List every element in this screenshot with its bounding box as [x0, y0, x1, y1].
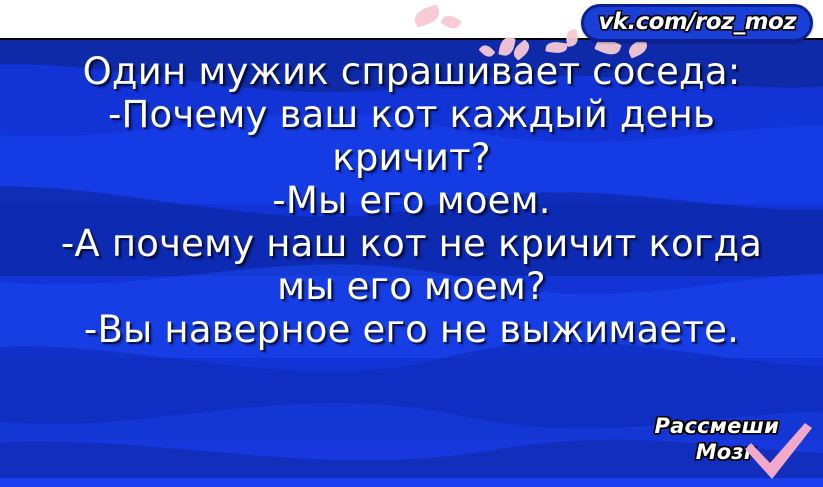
joke-line-2: -Почему ваш кот каждый день — [0, 93, 823, 136]
bottom-accent-bar — [0, 478, 823, 487]
joke-line-6: мы его моем? — [0, 265, 823, 308]
joke-line-4: -Мы его моем. — [0, 179, 823, 222]
joke-line-1: Один мужик спрашивает соседа: — [0, 50, 823, 93]
joke-text-block: Один мужик спрашивает соседа:-Почему ваш… — [0, 50, 823, 351]
joke-line-3: кричит? — [0, 136, 823, 179]
joke-line-7: -Вы наверное его не выжимаете. — [0, 308, 823, 351]
joke-line-5: -А почему наш кот не кричит когда — [0, 222, 823, 265]
checkmark-icon — [741, 421, 815, 483]
meme-image: Один мужик спрашивает соседа:-Почему ваш… — [0, 0, 823, 487]
rassmeshi-mozg-logo[interactable]: Рассмеши Мозг — [627, 413, 817, 479]
vk-watermark-text: vk.com/roz_moz — [598, 9, 796, 35]
vk-watermark-badge[interactable]: vk.com/roz_moz — [581, 4, 813, 42]
